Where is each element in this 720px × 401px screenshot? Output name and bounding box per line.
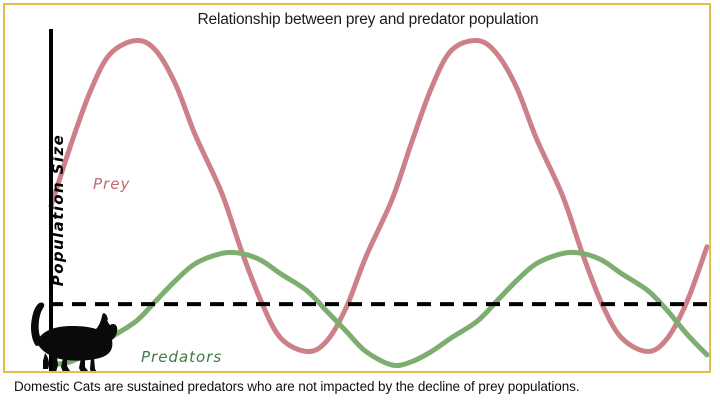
chart-title: Relationship between prey and predator p… xyxy=(5,11,709,29)
cat-silhouette-icon xyxy=(25,299,121,373)
figure-caption: Domestic Cats are sustained predators wh… xyxy=(14,379,714,394)
series-label-prey: Prey xyxy=(93,175,130,193)
chart-frame: Relationship between prey and predator p… xyxy=(3,3,711,373)
y-axis-label: Population Size xyxy=(49,100,67,320)
series-label-predators: Predators xyxy=(141,348,222,366)
figure-container: Relationship between prey and predator p… xyxy=(0,0,720,401)
